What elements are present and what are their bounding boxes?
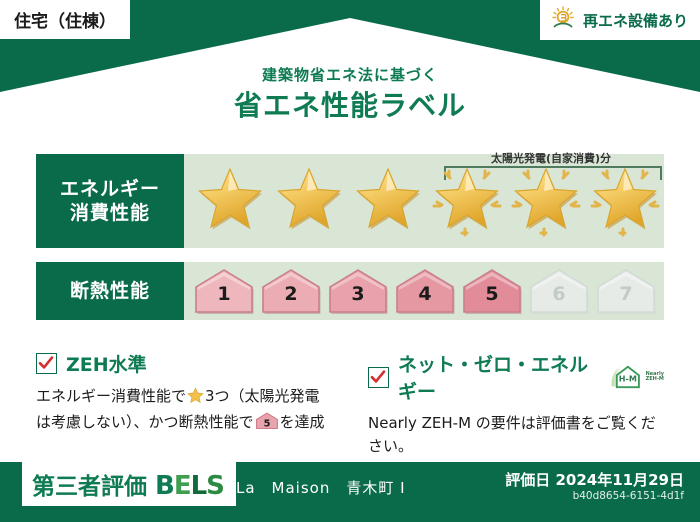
insulation-performance-label: 断熱性能 [36,262,184,320]
energy-performance-row: エネルギー 消費性能 太陽光発電(自家消費)分 [36,154,664,248]
evaluation-id: b40d8654-6151-4d1f [573,490,684,502]
insulation-level-6: 6 [527,267,591,315]
badge-building-type-label: 住宅（住棟） [14,12,116,32]
zeh-body-part3: は考慮しない）、かつ断熱性能で [36,413,254,431]
star-icon [271,161,347,241]
energy-performance-label: エネルギー 消費性能 [36,154,184,248]
page-title: 省エネ性能ラベル [0,84,700,124]
insulation-level-number: 6 [527,283,591,305]
star-icon [429,161,505,241]
bels-letter-b: B [155,471,174,501]
bels-letter-e: E [174,471,191,501]
bels-energy-label: 住宅（住棟） 再エネ設備あり 建築物省エネ法に基づく 省エ [0,0,700,522]
insulation-level-3: 3 [326,267,390,315]
star-icon [187,387,204,411]
criteria-zeh: ZEH水準 エネルギー消費性能で3つ（太陽光発電 は考慮しない）、かつ断熱性能で… [36,350,350,459]
logo-caption-line2: ZEH-M [646,376,664,382]
building-name: La Maison 青木町 I [236,477,406,498]
insulation-level-number: 7 [594,283,658,305]
insulation-level-4: 4 [393,267,457,315]
criteria-nze: ネット・ゼロ・エネルギー H-M N [350,350,664,459]
bels-letter-l: L [191,471,207,501]
criteria-zeh-header: ZEH水準 [36,350,350,377]
criteria-zeh-title: ZEH水準 [66,350,147,377]
label-subtitle: 建築物省エネ法に基づく [0,64,700,85]
insulation-level-1: 1 [192,267,256,315]
insulation-level-number: 3 [326,283,390,305]
nearly-zeh-m-logo: H-M Nearly ZEH-M [610,364,664,390]
badge-renewable-energy-label: 再エネ設備あり [583,10,688,31]
insulation-level-scale: 1 2 3 4 5 [184,262,664,320]
check-mark-icon [36,353,57,374]
criteria-nze-title: ネット・ゼロ・エネルギー [398,350,595,404]
energy-label-line1: エネルギー [60,177,160,201]
badge-renewable-energy: 再エネ設備あり [538,0,700,42]
badge-building-type: 住宅（住棟） [0,0,132,41]
zeh-body-part2: 3つ（太陽光発電 [205,387,320,405]
insulation-level-number: 2 [259,283,323,305]
star-rating [184,154,664,248]
house-level-5-icon: 5 [255,412,279,437]
insulation-level-2: 2 [259,267,323,315]
third-party-eval-label: 第三者評価 [32,467,147,501]
insulation-level-7: 7 [594,267,658,315]
star-icon [587,161,663,241]
bels-footer-box: 第三者評価 BELS [22,462,236,506]
criteria-section: ZEH水準 エネルギー消費性能で3つ（太陽光発電 は考慮しない）、かつ断熱性能で… [36,350,664,459]
insulation-scale-area: 1 2 3 4 5 [184,262,664,320]
solar-sun-icon [550,6,576,34]
insulation-label-text: 断熱性能 [70,279,150,303]
criteria-zeh-body: エネルギー消費性能で3つ（太陽光発電 は考慮しない）、かつ断熱性能で5を達成 [36,385,350,438]
insulation-level-number: 5 [460,283,524,305]
zeh-body-part4: を達成 [280,413,325,431]
bels-wordmark: BELS [155,471,224,501]
check-mark-icon [368,367,389,388]
evaluation-date: 評価日 2024年11月29日 [505,469,684,490]
nearly-zeh-m-caption: Nearly ZEH-M [646,372,664,383]
energy-label-line2: 消費性能 [70,201,150,225]
insulation-level-number: 1 [192,283,256,305]
svg-text:H-M: H-M [618,375,636,384]
svg-text:5: 5 [263,419,270,430]
energy-performance-stars-area: 太陽光発電(自家消費)分 [184,154,664,248]
insulation-level-5: 5 [460,267,524,315]
star-icon [350,161,426,241]
criteria-nze-body: Nearly ZEH-M の要件は評価書をご覧ください。 [368,412,664,459]
zeh-body-part1: エネルギー消費性能で [36,387,186,405]
star-icon [192,161,268,241]
criteria-nze-header: ネット・ゼロ・エネルギー H-M N [368,350,664,404]
bels-letter-s: S [206,471,224,501]
insulation-performance-row: 断熱性能 1 2 3 [36,262,664,320]
insulation-level-number: 4 [393,283,457,305]
star-icon [508,161,584,241]
